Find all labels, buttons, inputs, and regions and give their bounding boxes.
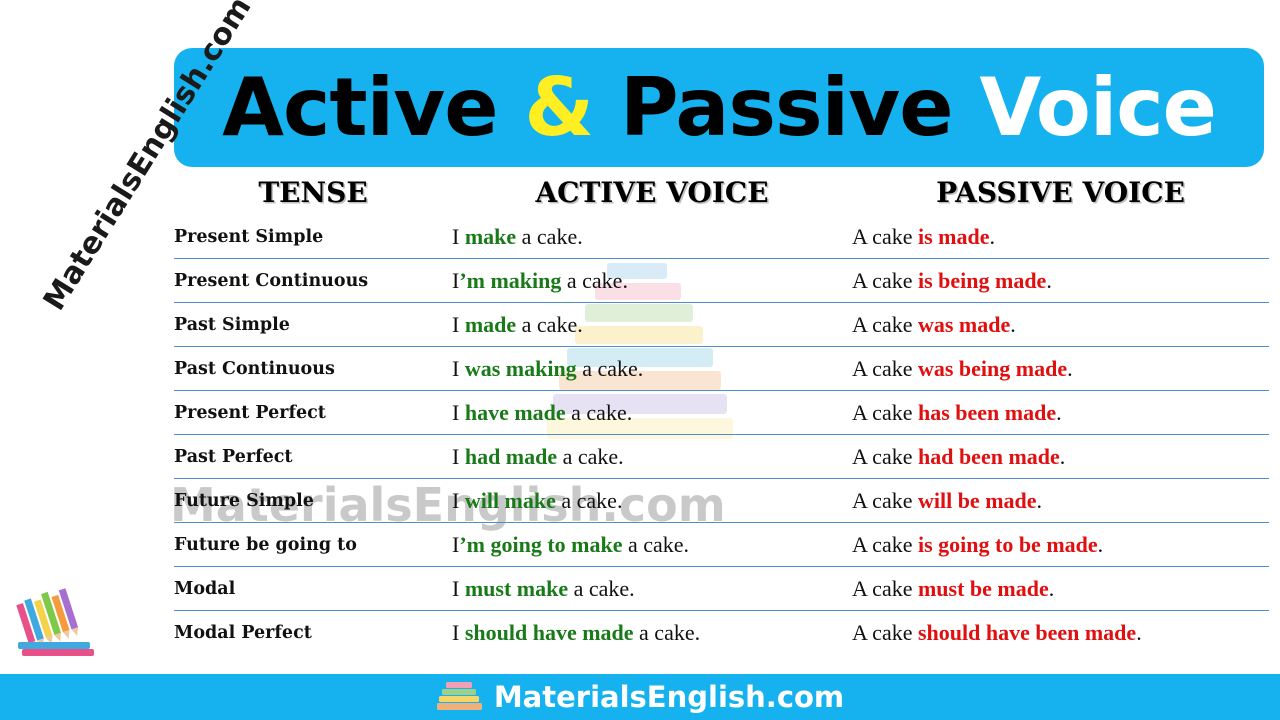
- cell-passive-voice: A cake had been made.: [852, 435, 1269, 479]
- active-prefix: I: [452, 444, 465, 469]
- active-highlight: should have made: [465, 620, 634, 645]
- header-passive-voice: PASSIVE VOICE: [852, 176, 1269, 215]
- cell-passive-voice: A cake will be made.: [852, 479, 1269, 523]
- cell-tense: Modal Perfect: [174, 611, 452, 655]
- cell-passive-voice: A cake was made.: [852, 303, 1269, 347]
- active-highlight: must make: [465, 576, 568, 601]
- cell-active-voice: I’m making a cake.: [452, 259, 852, 303]
- table-row: Present PerfectI have made a cake.A cake…: [174, 391, 1269, 435]
- footer-books-icon: [436, 680, 484, 714]
- active-highlight: made: [465, 312, 516, 337]
- cell-passive-voice: A cake was being made.: [852, 347, 1269, 391]
- passive-prefix: A cake: [852, 444, 918, 469]
- cell-active-voice: I made a cake.: [452, 303, 852, 347]
- title-part-active: Active: [222, 61, 524, 154]
- title-ampersand: &: [524, 61, 593, 154]
- title-banner: Active & Passive Voice: [174, 48, 1264, 167]
- active-highlight: will make: [465, 488, 556, 513]
- title-part-voice: Voice: [979, 61, 1216, 154]
- active-highlight: ’m going to make: [459, 532, 622, 557]
- active-suffix: a cake.: [634, 620, 701, 645]
- active-suffix: a cake.: [561, 268, 628, 293]
- footer-bar: MaterialsEnglish.com: [0, 674, 1280, 720]
- passive-suffix: .: [1056, 400, 1062, 425]
- table-row: ModalI must make a cake.A cake must be m…: [174, 567, 1269, 611]
- cell-active-voice: I should have made a cake.: [452, 611, 852, 655]
- active-prefix: I: [452, 224, 465, 249]
- cell-active-voice: I was making a cake.: [452, 347, 852, 391]
- passive-suffix: .: [1067, 356, 1073, 381]
- passive-prefix: A cake: [852, 576, 918, 601]
- active-highlight: make: [465, 224, 516, 249]
- table-row: Modal PerfectI should have made a cake.A…: [174, 611, 1269, 655]
- cell-tense: Past Perfect: [174, 435, 452, 479]
- cell-tense: Modal: [174, 567, 452, 611]
- cell-tense: Past Simple: [174, 303, 452, 347]
- active-highlight: had made: [465, 444, 557, 469]
- active-prefix: I: [452, 620, 465, 645]
- table-row: Past ContinuousI was making a cake.A cak…: [174, 347, 1269, 391]
- passive-suffix: .: [989, 224, 995, 249]
- passive-suffix: .: [1037, 488, 1043, 513]
- title-part-passive: Passive: [593, 61, 979, 154]
- page-title: Active & Passive Voice: [222, 68, 1216, 148]
- header-tense: TENSE: [174, 176, 452, 215]
- active-suffix: a cake.: [556, 488, 623, 513]
- passive-prefix: A cake: [852, 312, 918, 337]
- passive-highlight: should have been made: [918, 620, 1136, 645]
- active-suffix: a cake.: [622, 532, 689, 557]
- cell-active-voice: I will make a cake.: [452, 479, 852, 523]
- active-prefix: I: [452, 356, 465, 381]
- passive-prefix: A cake: [852, 488, 918, 513]
- cell-tense: Future be going to: [174, 523, 452, 567]
- footer-brand: MaterialsEnglish.com: [494, 680, 844, 714]
- cell-passive-voice: A cake must be made.: [852, 567, 1269, 611]
- passive-suffix: .: [1046, 268, 1052, 293]
- passive-suffix: .: [1010, 312, 1016, 337]
- passive-highlight: has been made: [918, 400, 1056, 425]
- passive-highlight: is made: [918, 224, 990, 249]
- cell-tense: Past Continuous: [174, 347, 452, 391]
- passive-prefix: A cake: [852, 268, 918, 293]
- table-row: Past SimpleI made a cake.A cake was made…: [174, 303, 1269, 347]
- passive-prefix: A cake: [852, 400, 918, 425]
- cell-active-voice: I’m going to make a cake.: [452, 523, 852, 567]
- cell-active-voice: I have made a cake.: [452, 391, 852, 435]
- active-highlight: have made: [465, 400, 566, 425]
- cell-passive-voice: A cake is being made.: [852, 259, 1269, 303]
- active-suffix: a cake.: [577, 356, 644, 381]
- header-active-voice: ACTIVE VOICE: [452, 176, 852, 215]
- passive-highlight: will be made: [918, 488, 1037, 513]
- cell-tense: Present Continuous: [174, 259, 452, 303]
- cell-tense: Present Simple: [174, 215, 452, 259]
- cell-passive-voice: A cake should have been made.: [852, 611, 1269, 655]
- active-passive-voice-table: TENSE ACTIVE VOICE PASSIVE VOICE Present…: [174, 176, 1269, 654]
- active-suffix: a cake.: [557, 444, 624, 469]
- table-row: Past PerfectI had made a cake.A cake had…: [174, 435, 1269, 479]
- cell-tense: Present Perfect: [174, 391, 452, 435]
- passive-highlight: was made: [918, 312, 1010, 337]
- active-prefix: I: [452, 312, 465, 337]
- passive-suffix: .: [1136, 620, 1142, 645]
- passive-prefix: A cake: [852, 224, 918, 249]
- table-row: Future SimpleI will make a cake.A cake w…: [174, 479, 1269, 523]
- cell-passive-voice: A cake is going to be made.: [852, 523, 1269, 567]
- cell-active-voice: I must make a cake.: [452, 567, 852, 611]
- passive-highlight: must be made: [918, 576, 1049, 601]
- passive-highlight: had been made: [918, 444, 1060, 469]
- cell-active-voice: I make a cake.: [452, 215, 852, 259]
- passive-highlight: was being made: [918, 356, 1067, 381]
- passive-prefix: A cake: [852, 356, 918, 381]
- table-row: Present ContinuousI’m making a cake.A ca…: [174, 259, 1269, 303]
- voice-table-container: TENSE ACTIVE VOICE PASSIVE VOICE Present…: [174, 176, 1269, 654]
- table-header-row: TENSE ACTIVE VOICE PASSIVE VOICE: [174, 176, 1269, 215]
- passive-prefix: A cake: [852, 532, 918, 557]
- passive-highlight: is going to be made: [918, 532, 1098, 557]
- cell-passive-voice: A cake is made.: [852, 215, 1269, 259]
- table-row: Future be going toI’m going to make a ca…: [174, 523, 1269, 567]
- passive-suffix: .: [1098, 532, 1104, 557]
- active-prefix: I: [452, 576, 465, 601]
- passive-suffix: .: [1060, 444, 1066, 469]
- active-suffix: a cake.: [566, 400, 633, 425]
- pencils-and-books-icon: [14, 586, 110, 660]
- active-suffix: a cake.: [516, 312, 583, 337]
- table-body: Present SimpleI make a cake.A cake is ma…: [174, 215, 1269, 654]
- cell-active-voice: I had made a cake.: [452, 435, 852, 479]
- cell-tense: Future Simple: [174, 479, 452, 523]
- cell-passive-voice: A cake has been made.: [852, 391, 1269, 435]
- passive-highlight: is being made: [918, 268, 1046, 293]
- active-prefix: I: [452, 400, 465, 425]
- active-suffix: a cake.: [568, 576, 635, 601]
- passive-prefix: A cake: [852, 620, 918, 645]
- passive-suffix: .: [1049, 576, 1055, 601]
- active-highlight: was making: [465, 356, 577, 381]
- active-suffix: a cake.: [516, 224, 583, 249]
- table-row: Present SimpleI make a cake.A cake is ma…: [174, 215, 1269, 259]
- active-prefix: I: [452, 488, 465, 513]
- active-highlight: ’m making: [459, 268, 561, 293]
